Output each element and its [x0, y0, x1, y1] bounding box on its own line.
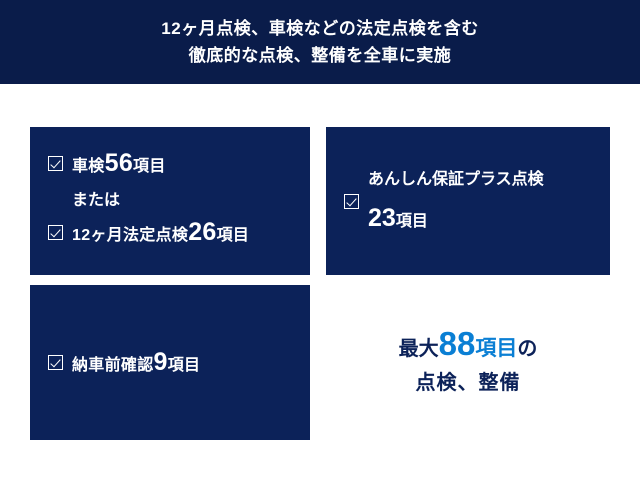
card-b-number: 23 [368, 204, 396, 232]
card-a-item-2-label: 12ヶ月法定点検 [72, 227, 188, 244]
summary-line-1: 最大88項目の [399, 326, 538, 367]
card-predelivery-check: 納車前確認9項目 [30, 285, 310, 440]
header-line-1: 12ヶ月点検、車検などの法定点検を含む [161, 15, 478, 42]
promo-poster: 12ヶ月点検、車検などの法定点検を含む 徹底的な点検、整備を全車に実施 車検56… [0, 0, 640, 480]
checkbox-checked-icon [48, 156, 63, 171]
summary-unit: 項目 [475, 337, 517, 360]
checkbox-checked-icon [48, 225, 63, 240]
card-a-item-1-label: 車検 [72, 158, 105, 175]
summary-line-2: 点検、整備 [416, 367, 521, 399]
card-a-item-2-unit: 項目 [217, 227, 250, 244]
card-a-item-1-number: 56 [105, 149, 133, 177]
checkbox-checked-icon [344, 194, 359, 209]
card-c-content: 納車前確認9項目 [72, 348, 200, 377]
card-a-item-2-number: 26 [188, 218, 216, 246]
card-b-content: あんしん保証プラス点検 23項目 [368, 161, 544, 241]
summary-number: 88 [439, 325, 476, 362]
card-b-unit: 項目 [396, 213, 428, 230]
card-c-unit: 項目 [168, 357, 201, 374]
card-a-row-2: 12ヶ月法定点検26項目 [48, 218, 292, 247]
card-a-connector: または [48, 186, 292, 210]
card-c-label: 納車前確認 [72, 357, 154, 374]
card-b-line-1: あんしん保証プラス点検 [368, 161, 544, 199]
summary-total: 最大88項目の 点検、整備 [326, 285, 610, 440]
summary-prefix: 最大 [399, 338, 439, 360]
header-line-2: 徹底的な点検、整備を全車に実施 [189, 42, 452, 69]
header-banner: 12ヶ月点検、車検などの法定点検を含む 徹底的な点検、整備を全車に実施 [0, 0, 640, 84]
summary-suffix: の [517, 338, 537, 360]
card-inspection-main: 車検56項目 または 12ヶ月法定点検26項目 [30, 127, 310, 275]
card-a-item-1-unit: 項目 [133, 158, 166, 175]
card-warranty-plus: あんしん保証プラス点検 23項目 [326, 127, 610, 275]
card-c-number: 9 [154, 348, 168, 376]
card-a-item-1: 車検56項目 [72, 149, 166, 178]
card-b-line-2: 23項目 [368, 199, 544, 241]
card-a-row-1: 車検56項目 [48, 149, 292, 178]
checkbox-checked-icon [48, 355, 63, 370]
card-a-item-2: 12ヶ月法定点検26項目 [72, 218, 249, 247]
